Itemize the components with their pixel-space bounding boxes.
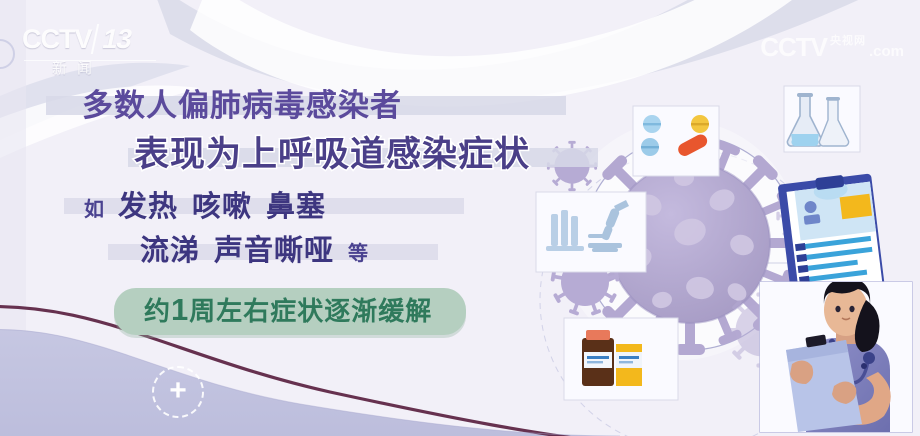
cctv13-logo: CCTV 13 新闻 [22, 24, 158, 86]
headline-line-2: 表现为上呼吸道感染症状 [134, 132, 530, 178]
headline-block: 多数人偏肺病毒感染者 表现为上呼吸道感染症状 [0, 84, 620, 180]
watermark-chinese-text: 央视网 [830, 36, 866, 47]
plus-icon: + [169, 376, 187, 406]
logo-divider [24, 60, 156, 61]
symptom-nasal-congestion: 鼻塞 [266, 191, 326, 223]
symptom-cough: 咳嗽 [192, 191, 252, 223]
cctv-logo-text: CCTV [22, 24, 92, 54]
symptom-suffix: 等 [348, 243, 368, 265]
symptom-fever: 发热 [118, 191, 178, 223]
recovery-highlight-text: 约1周左右症状逐渐缓解 [144, 295, 432, 326]
medicine-bottle-illustration [564, 318, 678, 400]
medical-cross-badge: + [152, 366, 204, 418]
symptom-hoarseness: 声音嘶哑 [214, 235, 334, 267]
symptom-row-2: 流涕声音嘶哑等 [0, 230, 560, 274]
recovery-duration-number: 1 [171, 292, 189, 327]
recovery-suffix: 周左右症状逐渐缓解 [189, 296, 432, 326]
symptom-list: 如发热咳嗽鼻塞 流涕声音嘶哑等 [0, 186, 560, 274]
watermark-domain-text: .com [869, 44, 904, 59]
symptom-runny-nose: 流涕 [140, 235, 200, 267]
symptom-prefix: 如 [84, 199, 104, 221]
headline-row-2: 表现为上呼吸道感染症状 [0, 132, 620, 180]
symptom-line-2: 流涕声音嘶哑等 [140, 230, 368, 277]
watermark-cctv-text: CCTV [760, 34, 827, 60]
broadcast-frame: CCTV 13 新闻 CCTV 央视网 .com 多数人偏肺病毒感染者 表现为上… [0, 0, 920, 436]
pills-illustration [633, 106, 719, 176]
headline-row-1: 多数人偏肺病毒感染者 [0, 84, 620, 132]
flask-illustration [784, 86, 860, 152]
symptom-row-1: 如发热咳嗽鼻塞 [0, 186, 560, 230]
doctor-illustration [760, 278, 912, 432]
cctv-com-watermark: CCTV 央视网 .com [760, 34, 904, 60]
recovery-highlight-banner: 约1周左右症状逐渐缓解 [114, 288, 466, 335]
cctv-logo-wordmark: CCTV 13 [22, 24, 158, 54]
symptom-line-1: 如发热咳嗽鼻塞 [84, 186, 326, 233]
headline-line-1: 多数人偏肺病毒感染者 [82, 84, 402, 128]
cctv-channel-number: 13 [90, 24, 138, 54]
recovery-prefix: 约 [144, 296, 171, 326]
